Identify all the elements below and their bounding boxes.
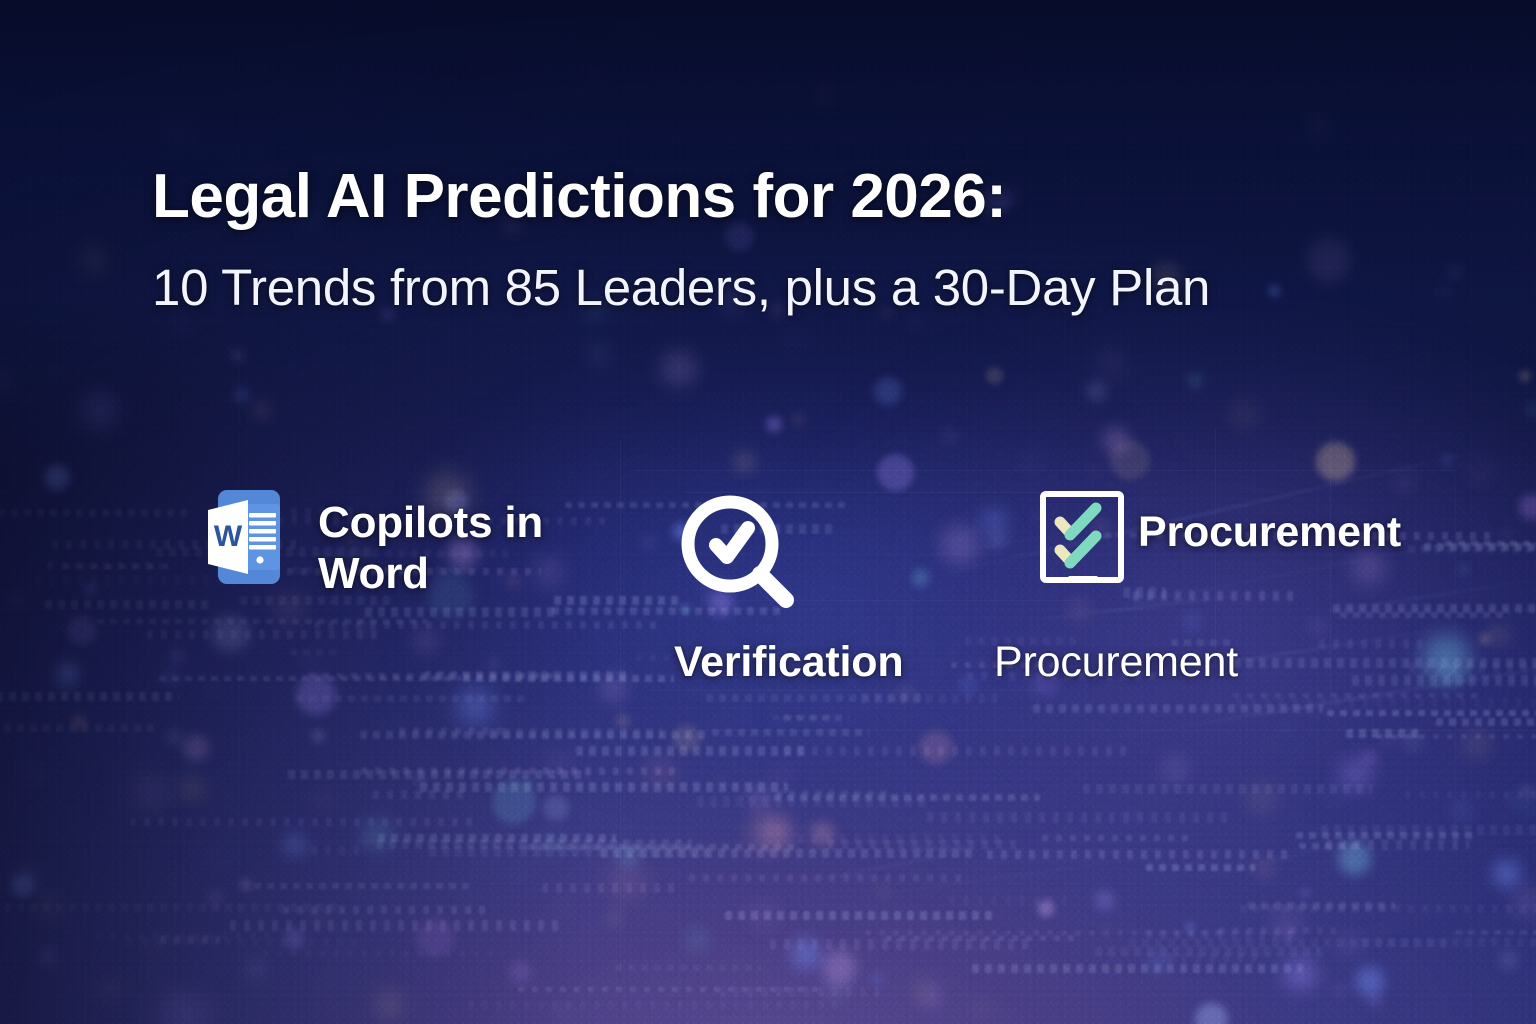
- checklist-clipboard-icon: [1038, 490, 1130, 590]
- hero-subtitle: 10 Trends from 85 Leaders, plus a 30-Day…: [152, 262, 1210, 313]
- feature-label-procurement-bottom: Procurement: [994, 638, 1238, 687]
- svg-text:W: W: [214, 520, 243, 553]
- feature-label-verification: Verification: [674, 638, 903, 687]
- hero-banner: Legal AI Predictions for 2026: 10 Trends…: [0, 0, 1536, 1024]
- hero-content: Legal AI Predictions for 2026: 10 Trends…: [0, 0, 1536, 1024]
- magnifier-check-icon: [678, 492, 800, 614]
- feature-label-procurement-top: Procurement: [1138, 508, 1401, 557]
- feature-label-copilots-in-word: Copilots in Word: [318, 498, 608, 599]
- microsoft-word-icon: W: [200, 488, 292, 586]
- hero-title: Legal AI Predictions for 2026:: [152, 166, 1006, 228]
